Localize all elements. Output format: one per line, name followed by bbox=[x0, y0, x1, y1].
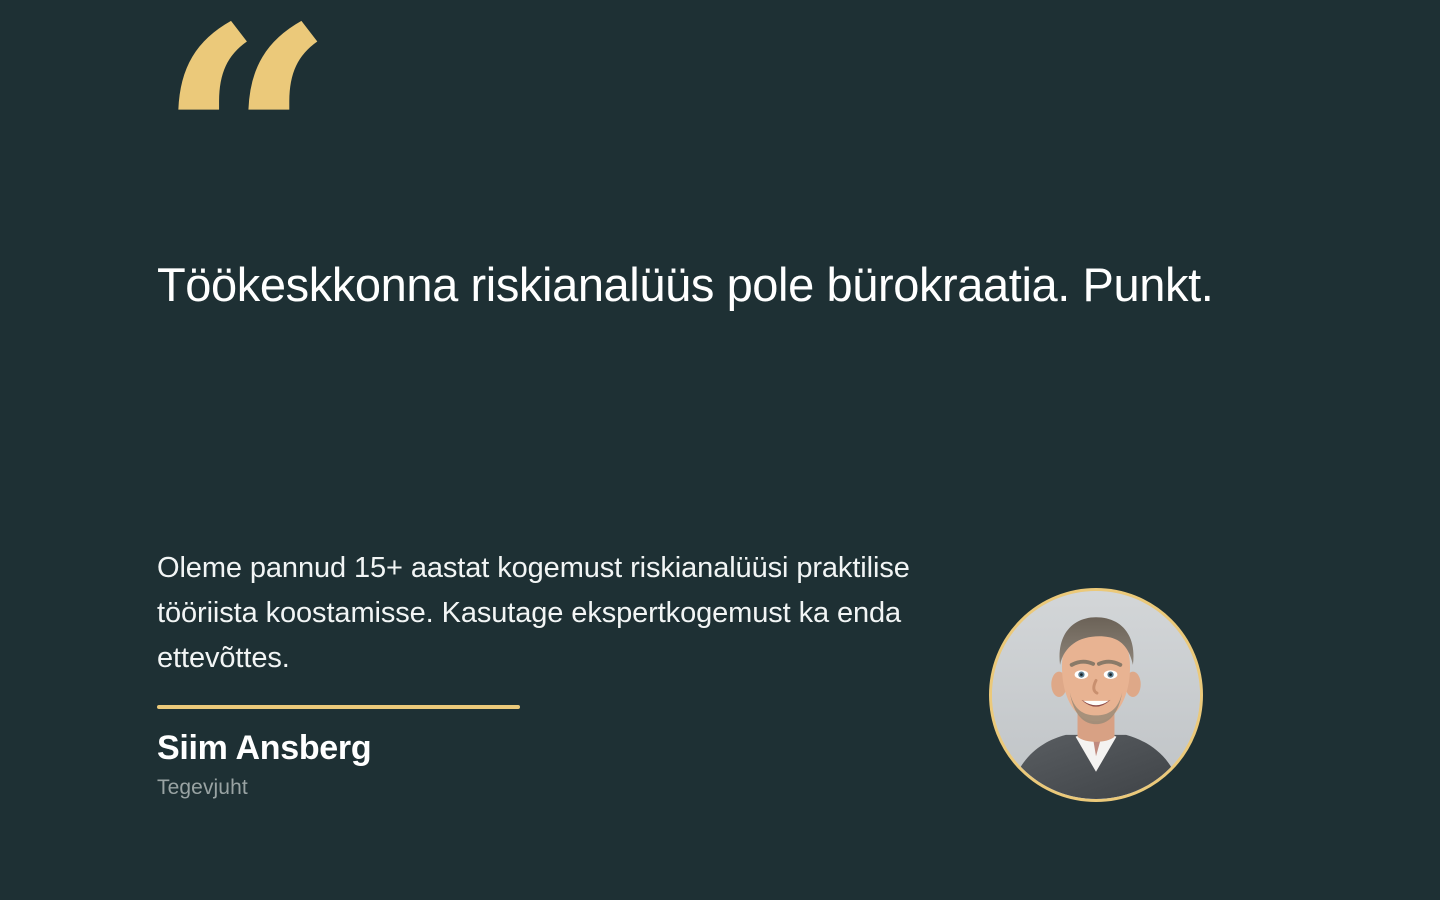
avatar-portrait-image bbox=[992, 591, 1200, 799]
quote-body-text: Oleme pannud 15+ aastat kogemust riskian… bbox=[157, 546, 957, 681]
gold-divider bbox=[157, 705, 520, 709]
author-role: Tegevjuht bbox=[157, 774, 797, 802]
avatar bbox=[989, 588, 1203, 802]
author-attribution: Siim Ansberg Tegevjuht bbox=[157, 726, 797, 802]
quote-headline: Töökeskkonna riskianalüüs pole bürokraat… bbox=[157, 252, 1307, 318]
author-name: Siim Ansberg bbox=[157, 726, 797, 770]
testimonial-slide: “ Töökeskkonna riskianalüüs pole bürokra… bbox=[0, 0, 1440, 900]
